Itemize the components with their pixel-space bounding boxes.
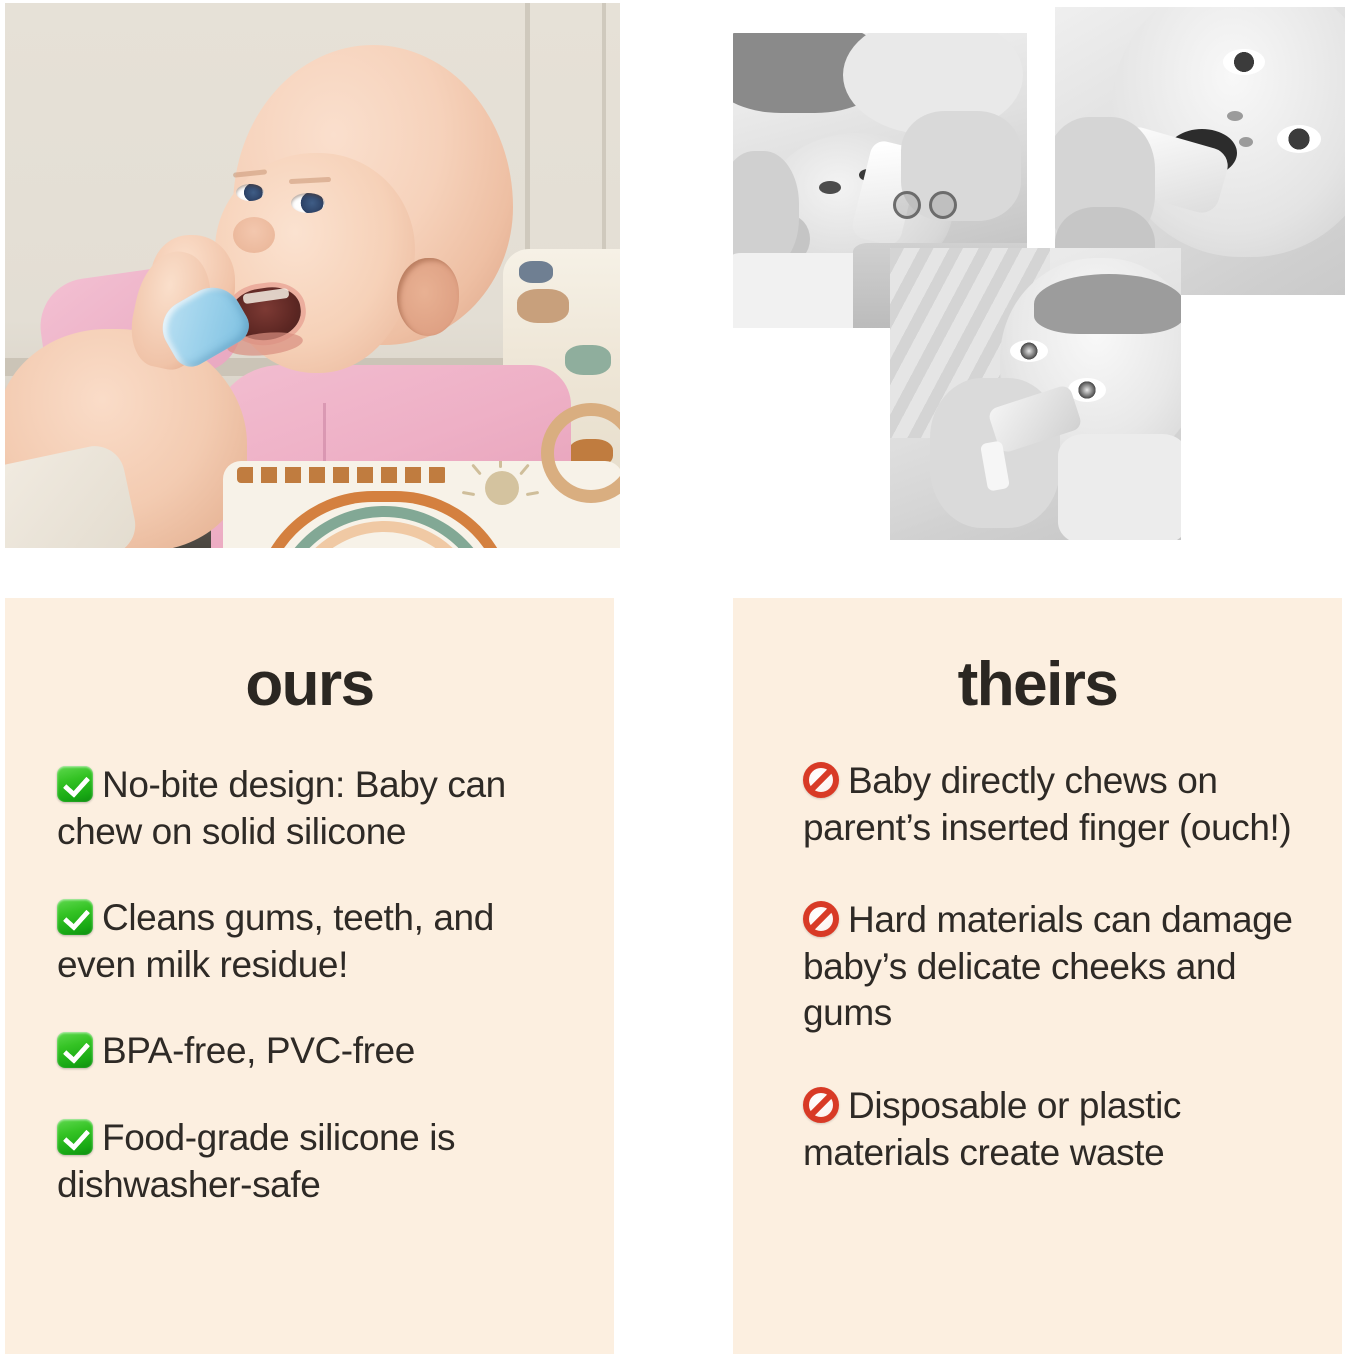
theirs-list-item-text: Hard materials can damage baby’s delicat… (803, 899, 1293, 1033)
theirs-list-item-text: Baby directly chews on parent’s inserted… (803, 760, 1291, 848)
baby-eye (1010, 340, 1048, 362)
cushion-dash-band (237, 467, 447, 483)
baby-eye (1277, 125, 1321, 153)
sun-ray (499, 461, 502, 468)
baby-eye (236, 184, 264, 201)
baby-nose (233, 217, 275, 253)
theirs-list-item: Disposable or plastic materials create w… (803, 1083, 1312, 1176)
baby-eye (291, 193, 325, 213)
ours-list-item-text: Cleans gums, teeth, and even milk residu… (57, 897, 494, 985)
ours-list-item: Food-grade silicone is dishwasher-safe (57, 1115, 578, 1208)
baby-ear (397, 258, 459, 336)
theirs-list-item: Baby directly chews on parent’s inserted… (803, 758, 1312, 851)
ours-title: ours (5, 598, 614, 716)
ours-list-item-text: Food-grade silicone is dishwasher-safe (57, 1117, 455, 1205)
fabric-blob (565, 345, 611, 375)
baby-hair (1034, 274, 1181, 334)
ours-list-item-text: BPA-free, PVC-free (102, 1030, 415, 1071)
sun-ray (462, 491, 475, 496)
prohibited-icon (803, 762, 839, 798)
snap-button (893, 191, 921, 219)
fabric-blob (517, 289, 569, 323)
ours-benefit-list: No-bite design: Baby can chew on solid s… (5, 762, 614, 1208)
printed-blanket (733, 253, 867, 328)
theirs-list-item: Hard materials can damage baby’s delicat… (803, 897, 1312, 1037)
check-mark-icon (57, 1032, 93, 1068)
baby-nostril (1227, 111, 1243, 121)
theirs-drawback-list: Baby directly chews on parent’s inserted… (733, 758, 1342, 1176)
theirs-list-item-text: Disposable or plastic materials create w… (803, 1085, 1181, 1173)
baby-eye (1223, 49, 1265, 75)
collage-photo-3 (890, 248, 1181, 540)
sun-ray (471, 464, 482, 476)
sun-motif (485, 471, 519, 505)
check-mark-icon (57, 899, 93, 935)
check-mark-icon (57, 766, 93, 802)
sun-ray (526, 491, 539, 496)
baby-bib (1058, 434, 1181, 540)
theirs-panel: theirs Baby directly chews on parent’s i… (733, 598, 1342, 1354)
ours-list-item: BPA-free, PVC-free (57, 1028, 578, 1075)
media-gallery (0, 0, 1346, 570)
prohibited-icon (803, 1087, 839, 1123)
hero-product-photo (5, 3, 620, 548)
ours-list-item: Cleans gums, teeth, and even milk residu… (57, 895, 578, 988)
baby-nostril (1239, 137, 1253, 147)
ours-list-item: No-bite design: Baby can chew on solid s… (57, 762, 578, 855)
ours-list-item-text: No-bite design: Baby can chew on solid s… (57, 764, 506, 852)
snap-button (929, 191, 957, 219)
sun-ray (519, 464, 530, 476)
baby-eye (819, 181, 841, 194)
bw-photo-collage (720, 0, 1346, 560)
ours-panel: ours No-bite design: Baby can chew on so… (5, 598, 614, 1354)
prohibited-icon (803, 901, 839, 937)
theirs-title: theirs (733, 598, 1342, 716)
fabric-blob (519, 261, 553, 283)
check-mark-icon (57, 1119, 93, 1155)
